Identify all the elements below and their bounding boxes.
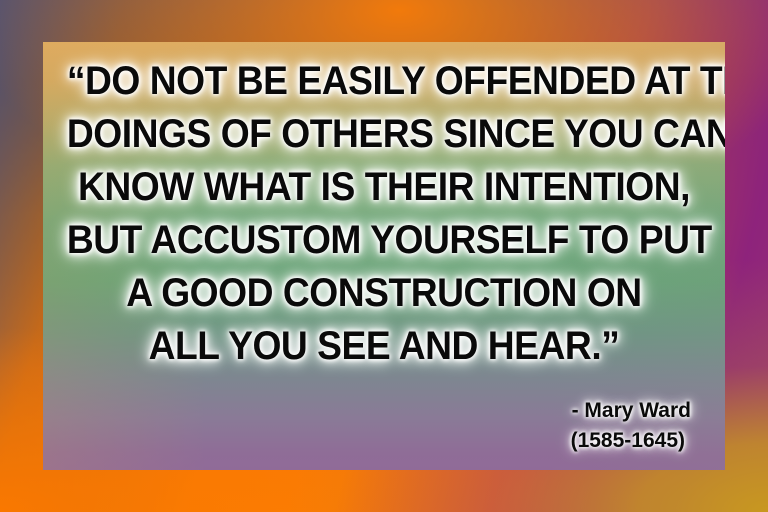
quote-line-4: BUT ACCUSTOM YOURSELF TO PUT bbox=[67, 214, 701, 267]
quote-text-block: “DO NOT BE EASILY OFFENDED AT THE DOINGS… bbox=[43, 55, 725, 373]
attribution-author: - Mary Ward bbox=[571, 396, 691, 426]
quote-line-2: DOINGS OF OTHERS SINCE YOU CANNOT bbox=[67, 108, 701, 161]
quote-poster: “DO NOT BE EASILY OFFENDED AT THE DOINGS… bbox=[0, 0, 768, 512]
quote-line-6: ALL YOU SEE AND HEAR.” bbox=[67, 320, 701, 373]
quote-panel: “DO NOT BE EASILY OFFENDED AT THE DOINGS… bbox=[43, 42, 725, 470]
quote-line-1: “DO NOT BE EASILY OFFENDED AT THE bbox=[67, 55, 701, 108]
attribution-block: - Mary Ward (1585-1645) bbox=[571, 396, 691, 456]
quote-line-5: A GOOD CONSTRUCTION ON bbox=[67, 267, 701, 320]
quote-line-3: KNOW WHAT IS THEIR INTENTION, bbox=[67, 161, 701, 214]
attribution-dates: (1585-1645) bbox=[571, 426, 691, 456]
